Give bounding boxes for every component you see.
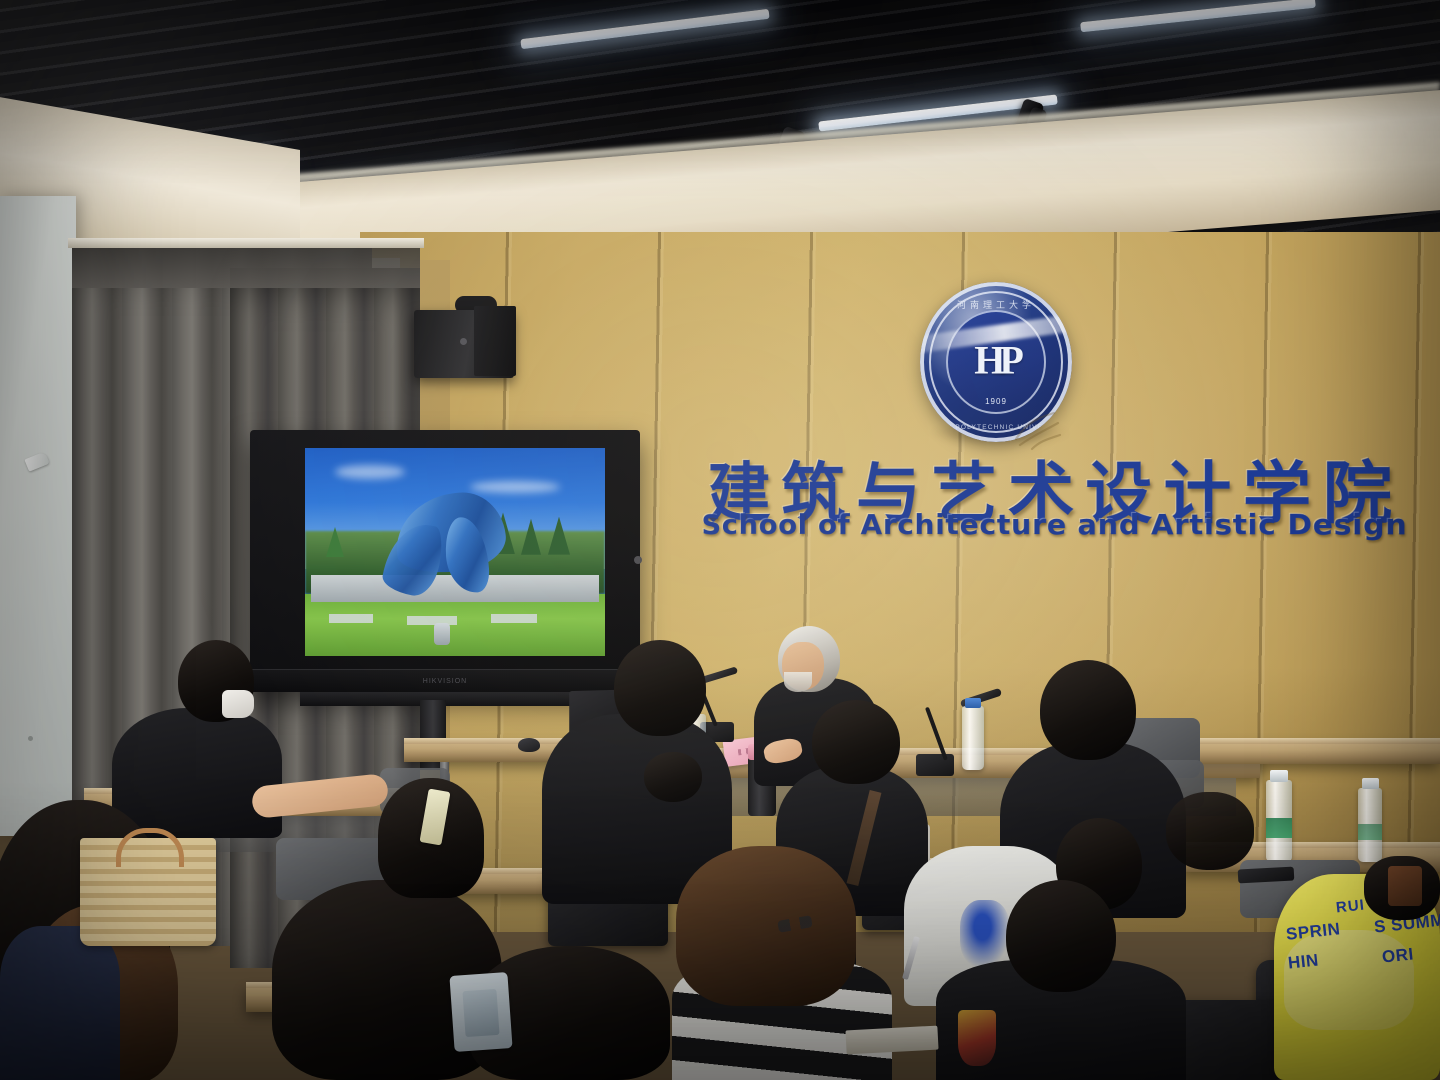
audience-person bbox=[112, 708, 282, 838]
audience-head bbox=[676, 846, 856, 1006]
hair-clip-inner-icon bbox=[462, 989, 499, 1037]
brown-hair-clip-icon bbox=[1388, 866, 1422, 906]
presenter-beard bbox=[784, 672, 812, 692]
water-bottle[interactable] bbox=[962, 706, 984, 770]
phone[interactable] bbox=[1238, 867, 1295, 884]
gooseneck-microphone-base bbox=[916, 754, 954, 776]
notebook[interactable] bbox=[845, 1026, 938, 1055]
display-slide-image bbox=[305, 448, 605, 656]
audience-head bbox=[1006, 880, 1116, 992]
jacket-text-line2a: HIN bbox=[1287, 950, 1320, 973]
shirt-graphic-icon bbox=[958, 1010, 996, 1066]
curtain-rail bbox=[68, 238, 424, 248]
shirt-blue-print-icon bbox=[960, 900, 1010, 968]
slide-sculpture-base bbox=[434, 623, 450, 645]
water-bottle-label bbox=[1358, 824, 1382, 840]
jacket-text-top: RUI bbox=[1335, 897, 1365, 917]
wall-title-english: School of Architecture and Artistic Desi… bbox=[702, 508, 1334, 542]
water-bottle-cap bbox=[1362, 778, 1379, 789]
audience-head bbox=[1040, 660, 1136, 760]
lecture-hall-photo: 河南理工大学 HP 1909 HENAN POLYTECHNIC UNIVERS… bbox=[0, 0, 1440, 1080]
wall-mounted-loudspeaker-side bbox=[474, 306, 516, 376]
computer-mouse[interactable] bbox=[518, 738, 540, 752]
water-bottle-cap bbox=[965, 698, 981, 708]
audience-head bbox=[812, 700, 900, 784]
room-column bbox=[0, 196, 76, 836]
yellow-jacket-hood bbox=[1284, 930, 1414, 1030]
face-mask-icon bbox=[222, 690, 254, 718]
audience-person bbox=[0, 926, 120, 1080]
water-bottle-label bbox=[1266, 818, 1292, 838]
audience-head bbox=[1166, 792, 1254, 870]
audience-head bbox=[614, 640, 706, 736]
audience-head bbox=[644, 752, 702, 802]
display-bezel: HIKVISION bbox=[250, 669, 640, 692]
seal-year: 1909 bbox=[985, 397, 1007, 406]
jacket-text-line2b: ORI bbox=[1381, 944, 1415, 967]
water-bottle-cap bbox=[1270, 770, 1288, 782]
curtain-header bbox=[72, 246, 420, 288]
wall-display-screen[interactable]: HIKVISION bbox=[250, 430, 640, 692]
display-brand-mark: HIKVISION bbox=[423, 678, 467, 685]
display-power-button[interactable] bbox=[634, 556, 642, 564]
speaker-led-icon bbox=[460, 338, 467, 345]
